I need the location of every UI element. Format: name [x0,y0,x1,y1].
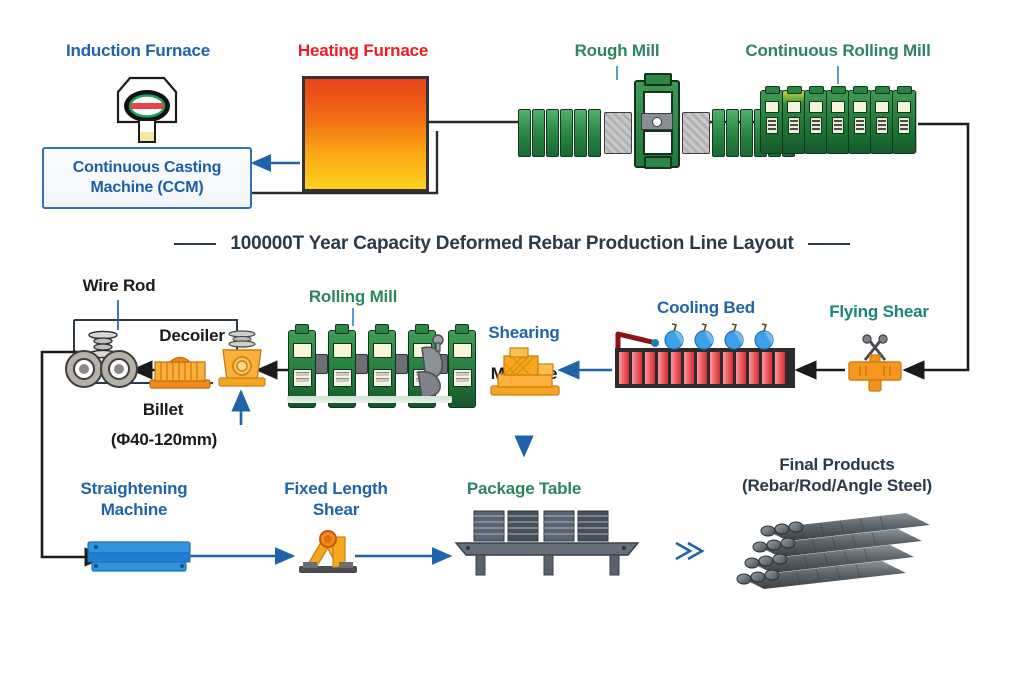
label-wire-rod: Wire Rod [62,276,176,297]
label-induction-furnace: Induction Furnace [40,41,236,62]
label-package-table: Package Table [444,479,604,500]
rough-mill-housing [634,80,680,168]
label-heating-furnace: Heating Furnace [268,41,458,62]
label-ccm: Continuous Casting Machine (CCM) [44,158,250,197]
ccm-box[interactable]: Continuous Casting Machine (CCM) [42,147,252,209]
title-rule-left [174,243,216,245]
label-continuous-rolling-mill: Continuous Rolling Mill [718,41,958,62]
label-final-products: Final Products (Rebar/Rod/Angle Steel) [712,455,962,496]
label-rolling-mill: Rolling Mill [285,287,421,308]
label-cooling-bed: Cooling Bed [630,298,782,319]
diagram-canvas: 100000T Year Capacity Deformed Rebar Pro… [0,0,1024,683]
rough-mill-icon [518,98,796,168]
heating-furnace-icon [302,76,429,192]
label-rough-mill: Rough Mill [537,41,697,62]
label-fixed-length-shear: Fixed Length Shear [258,479,414,520]
continuous-rolling-mill-icon [760,90,914,154]
label-flying-shear: Flying Shear [805,302,953,323]
label-billet-spec: (Φ40-120mm) [86,430,242,451]
title-rule-right [808,243,850,245]
rough-mill-entry-rollers [518,109,602,157]
label-billet: Billet [108,400,218,421]
rolling-mill-base [287,396,452,403]
label-straightening-machine: Straightening Machine [56,479,212,520]
page-title: 100000T Year Capacity Deformed Rebar Pro… [230,232,793,255]
page-title-wrap: 100000T Year Capacity Deformed Rebar Pro… [0,232,1024,255]
